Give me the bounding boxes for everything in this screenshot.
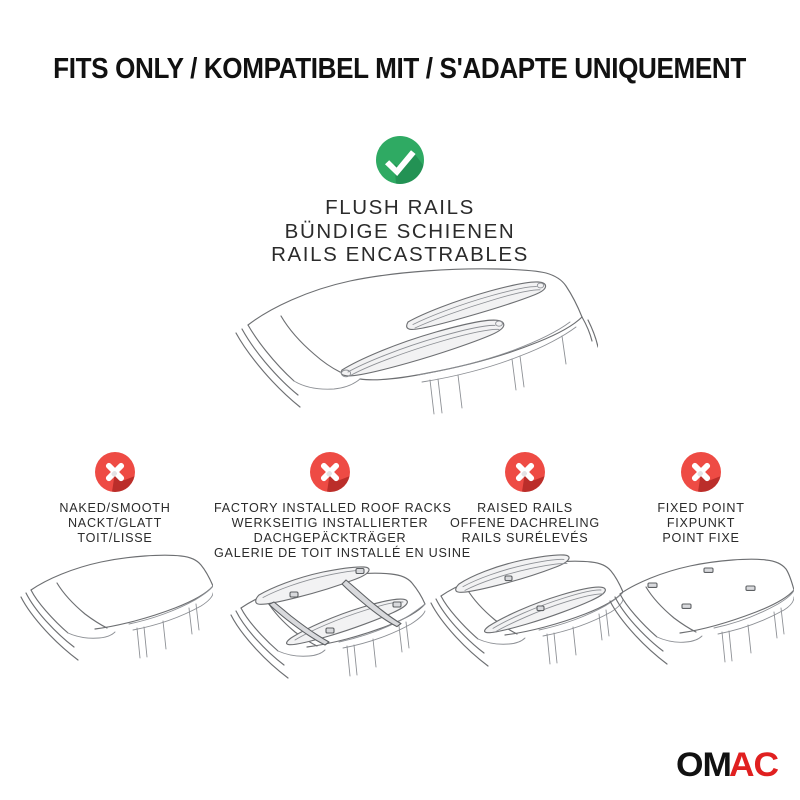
- compatible-block: FLUSH RAILS BÜNDIGE SCHIENEN RAILS ENCAS…: [0, 136, 800, 267]
- cross-mark-icon: [95, 452, 135, 492]
- compatible-label-de: BÜNDIGE SCHIENEN: [0, 220, 800, 244]
- label-en: FACTORY INSTALLED ROOF RACKS: [214, 501, 446, 516]
- incompatible-item-factory-racks: FACTORY INSTALLED ROOF RACKS WERKSEITIG …: [214, 452, 446, 561]
- cross-mark-icon: [505, 452, 545, 492]
- incompatible-labels: FIXED POINT FIXPUNKT POINT FIXE: [612, 501, 790, 546]
- check-mark-icon: [376, 136, 424, 184]
- car-roof-factory-racks-svg: [225, 562, 435, 688]
- car-roof-raised-rails-svg: [427, 548, 623, 672]
- label-en: NAKED/SMOOTH: [10, 501, 220, 516]
- label-fr: GALERIE DE TOIT INSTALLÉ EN USINE: [214, 546, 446, 561]
- cross-mark-glyph: [95, 452, 135, 492]
- label-fr: TOIT/LISSE: [10, 531, 220, 546]
- compatible-label-en: FLUSH RAILS: [0, 196, 800, 220]
- car-roof-bare-illustration: [17, 548, 213, 668]
- label-de: NACKT/GLATT: [10, 516, 220, 531]
- cross-mark-glyph: [310, 452, 350, 492]
- label-de: OFFENE DACHRELING: [432, 516, 618, 531]
- incompatible-row: NAKED/SMOOTH NACKT/GLATT TOIT/LISSE: [0, 452, 800, 702]
- incompatible-labels: FACTORY INSTALLED ROOF RACKS WERKSEITIG …: [214, 501, 446, 561]
- cross-mark-glyph: [505, 452, 545, 492]
- cross-mark-glyph: [681, 452, 721, 492]
- check-mark-glyph: [376, 136, 424, 184]
- compatible-labels: FLUSH RAILS BÜNDIGE SCHIENEN RAILS ENCAS…: [0, 196, 800, 267]
- car-roof-flush-rails-svg: [222, 262, 598, 442]
- car-roof-factory-racks-illustration: [225, 562, 435, 688]
- compatibility-infographic: FITS ONLY / KOMPATIBEL MIT / S'ADAPTE UN…: [0, 0, 800, 800]
- page-title-text: FITS ONLY / KOMPATIBEL MIT / S'ADAPTE UN…: [54, 52, 747, 86]
- incompatible-labels: NAKED/SMOOTH NACKT/GLATT TOIT/LISSE: [10, 501, 220, 546]
- car-roof-fixed-point-illustration: [608, 548, 794, 670]
- label-fr: POINT FIXE: [612, 531, 790, 546]
- label-de-2: DACHGEPÄCKTRÄGER: [214, 531, 446, 546]
- cross-mark-icon: [681, 452, 721, 492]
- label-de-1: WERKSEITIG INSTALLIERTER: [214, 516, 446, 531]
- car-roof-fixed-point-svg: [608, 548, 794, 670]
- incompatible-item-fixed-point: FIXED POINT FIXPUNKT POINT FIXE: [612, 452, 790, 546]
- car-roof-bare-svg: [17, 548, 213, 668]
- car-roof-raised-rails-illustration: [427, 548, 623, 672]
- incompatible-labels: RAISED RAILS OFFENE DACHRELING RAILS SUR…: [432, 501, 618, 546]
- cross-mark-icon: [310, 452, 350, 492]
- omac-logo-part-2: AC: [729, 748, 778, 782]
- car-roof-flush-rails-illustration: [222, 262, 598, 442]
- label-en: FIXED POINT: [612, 501, 790, 516]
- label-en: RAISED RAILS: [432, 501, 618, 516]
- incompatible-item-raised-rails: RAISED RAILS OFFENE DACHRELING RAILS SUR…: [432, 452, 618, 546]
- omac-logo-part-1: OM: [676, 748, 731, 782]
- label-fr: RAILS SURÉLEVÉS: [432, 531, 618, 546]
- omac-logo: OMAC: [676, 748, 776, 782]
- page-title: FITS ONLY / KOMPATIBEL MIT / S'ADAPTE UN…: [0, 52, 800, 86]
- incompatible-item-naked-smooth: NAKED/SMOOTH NACKT/GLATT TOIT/LISSE: [10, 452, 220, 546]
- label-de: FIXPUNKT: [612, 516, 790, 531]
